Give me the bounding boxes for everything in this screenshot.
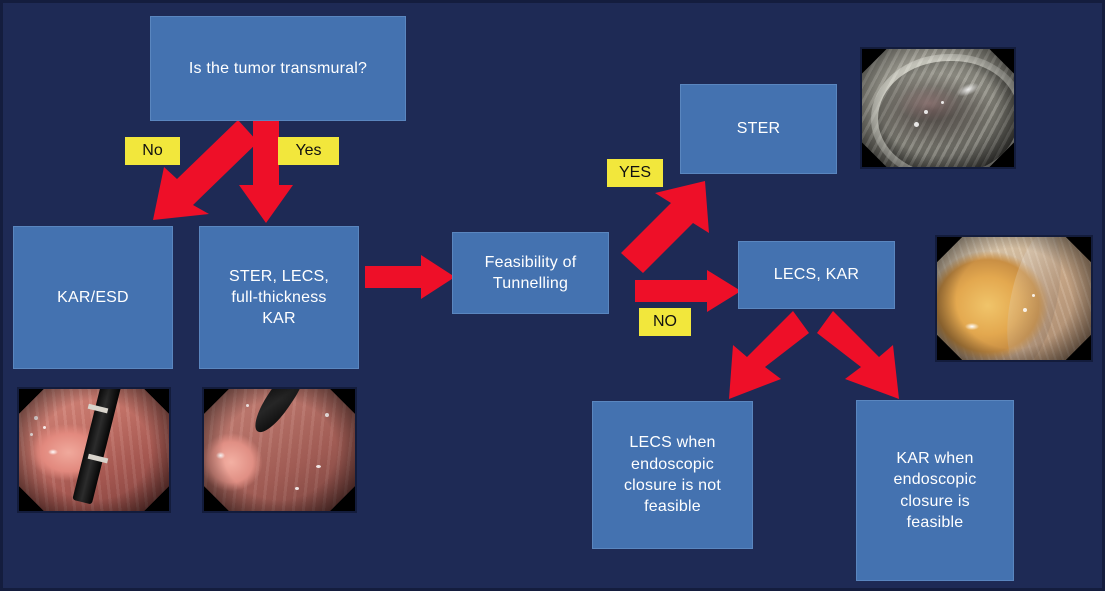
node-lecs-when-closure-not-feasible[interactable]: LECS when endoscopic closure is not feas… — [592, 401, 753, 549]
endoscope-shaft — [72, 387, 123, 504]
arrow-root-to-ster-lecs — [235, 113, 297, 225]
edge-label-tunnel-yes-text: YES — [619, 165, 651, 181]
endoscopic-photo-yellow-lesion — [935, 235, 1093, 362]
photo-content-yellow — [937, 237, 1091, 360]
edge-label-no-transmural: No — [125, 137, 180, 165]
edge-label-no-transmural-text: No — [142, 143, 162, 159]
node-feasibility-tunnelling[interactable]: Feasibility of Tunnelling — [452, 232, 609, 314]
endoscopic-photo-pink-tumor-bulge — [202, 387, 357, 513]
arrow-ster-lecs-to-feasibility — [365, 253, 457, 301]
node-feasibility-tunnelling-label: Feasibility of Tunnelling — [485, 252, 577, 295]
arrow-lecs-kar-to-lecs-closure — [721, 309, 811, 403]
node-lecs-kar[interactable]: LECS, KAR — [738, 241, 895, 309]
node-kar-esd[interactable]: KAR/ESD — [13, 226, 173, 369]
edge-label-tunnel-no-text: NO — [653, 314, 677, 330]
photo-content-pink-bulge — [204, 389, 355, 511]
photo-content-tunnel — [862, 49, 1014, 167]
edge-label-tunnel-yes: YES — [607, 159, 663, 187]
node-ster-label: STER — [737, 118, 780, 139]
node-ster-lecs-full-thickness[interactable]: STER, LECS, full-thickness KAR — [199, 226, 359, 369]
node-root-question-label: Is the tumor transmural? — [189, 58, 367, 79]
edge-label-tunnel-no: NO — [639, 308, 691, 336]
yellow-glare — [965, 323, 979, 330]
dark-lumen-shadow — [248, 387, 310, 438]
edge-label-yes-transmural-text: Yes — [295, 143, 321, 159]
node-ster[interactable]: STER — [680, 84, 837, 174]
edge-label-yes-transmural: Yes — [278, 137, 339, 165]
node-kar-esd-label: KAR/ESD — [57, 287, 129, 308]
node-lecs-kar-label: LECS, KAR — [774, 264, 859, 285]
endoscopic-photo-pink-tumor-with-scope — [17, 387, 171, 513]
mucosal-fold — [997, 235, 1071, 362]
node-lecs-when-closure-not-feasible-label: LECS when endoscopic closure is not feas… — [624, 432, 721, 517]
tunnel-ring — [871, 54, 1016, 169]
node-ster-lecs-full-thickness-label: STER, LECS, full-thickness KAR — [229, 266, 329, 330]
flowchart-canvas: Is the tumor transmural? KAR/ESD STER, L… — [0, 0, 1105, 591]
node-kar-when-closure-feasible-label: KAR when endoscopic closure is feasible — [894, 448, 977, 533]
photo-content-pink — [19, 389, 169, 511]
node-root-question[interactable]: Is the tumor transmural? — [150, 16, 406, 121]
pink-bulge-glare — [216, 452, 225, 458]
arrow-lecs-kar-to-kar-closure — [815, 309, 909, 405]
node-kar-when-closure-feasible[interactable]: KAR when endoscopic closure is feasible — [856, 400, 1014, 581]
arrow-feasibility-to-ster — [617, 179, 717, 275]
endoscopic-photo-submucosal-tunnel — [860, 47, 1016, 169]
pink-glare — [48, 449, 59, 455]
